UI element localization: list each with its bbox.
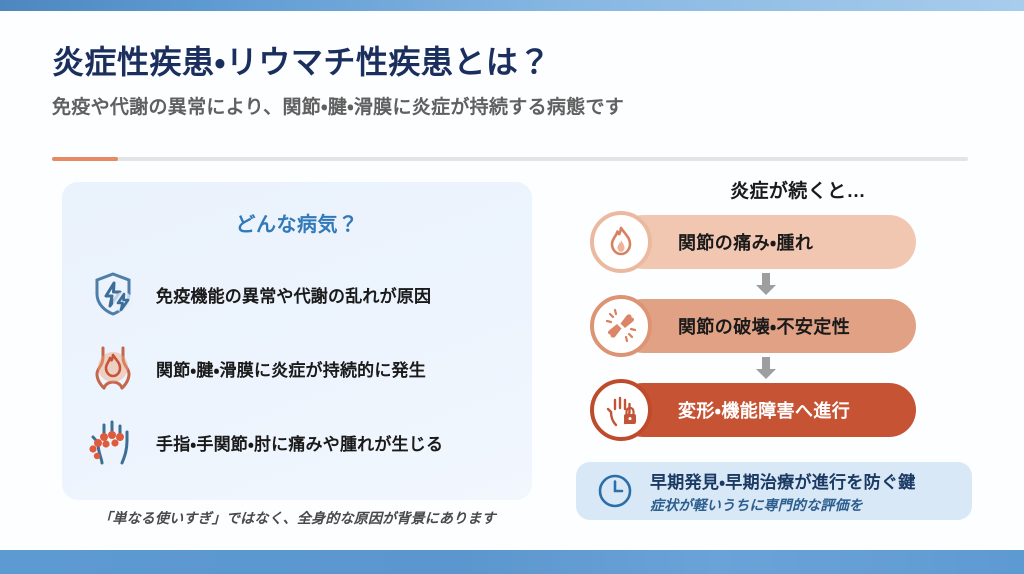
list-item: 関節・腱・滑膜に炎症が持続的に発生: [62, 331, 532, 405]
hand-joints-icon: [84, 413, 142, 471]
early-detection-callout: 早期発見・早期治療が進行を防ぐ鍵 症状が軽いうちに専門的な評価を: [576, 462, 972, 520]
page-title: 炎症性疾患・リウマチ性疾患とは？: [52, 44, 976, 82]
flow-step-label: 変形・機能障害へ進行: [678, 397, 850, 423]
page-subtitle: 免疫や代謝の異常により、関節・腱・滑膜に炎症が持続する病態です: [52, 92, 976, 119]
feature-list: 免疫機能の異常や代謝の乱れが原因 関節・腱・滑膜に炎症が持続的に発生: [62, 257, 532, 479]
header-divider-accent: [52, 157, 118, 161]
flow-step-label: 関節の痛み・腫れ: [678, 229, 813, 255]
progression-flow: 炎症が続くと… 関節の痛み・腫れ: [560, 176, 980, 437]
callout-subtitle: 症状が軽いうちに専門的な評価を: [650, 495, 916, 515]
callout-title: 早期発見・早期治療が進行を防ぐ鍵: [650, 468, 916, 493]
flow-step: 関節の破壊・不安定性: [616, 299, 916, 353]
card-footnote: 「単なる使いすぎ」ではなく、全身的な原因が背景にあります: [62, 508, 532, 528]
flow-step-label: 関節の破壊・不安定性: [678, 313, 850, 339]
top-decorative-bar: [0, 0, 1024, 11]
list-item: 手指・手関節・肘に痛みや腫れが生じる: [62, 405, 532, 479]
what-disease-card: どんな病気？ 免疫機能の異常や代謝の乱れが原因: [62, 182, 532, 500]
flow-step: 変形・機能障害へ進行: [616, 383, 916, 437]
flow-step: 関節の痛み・腫れ: [616, 215, 916, 269]
flow-heading: 炎症が続くと…: [560, 176, 980, 203]
list-item-label: 関節・腱・滑膜に炎症が持続的に発生: [156, 356, 426, 381]
shield-bolt-icon: [84, 265, 142, 323]
card-heading: どんな病気？: [62, 208, 532, 237]
clock-icon: [594, 470, 636, 512]
slide-header: 炎症性疾患・リウマチ性疾患とは？ 免疫や代謝の異常により、関節・腱・滑膜に炎症が…: [52, 44, 976, 119]
list-item-label: 免疫機能の異常や代謝の乱れが原因: [156, 282, 431, 307]
list-item-label: 手指・手関節・肘に痛みや腫れが生じる: [156, 430, 443, 455]
list-item: 免疫機能の異常や代謝の乱れが原因: [62, 257, 532, 331]
bottom-decorative-bar: [0, 550, 1024, 574]
header-divider: [52, 157, 968, 161]
arrow-down-icon: [616, 353, 916, 383]
broken-bone-icon: [590, 295, 652, 357]
joint-flame-icon: [84, 339, 142, 397]
hand-lock-icon: [590, 379, 652, 441]
flame-icon: [590, 211, 652, 273]
arrow-down-icon: [616, 269, 916, 299]
